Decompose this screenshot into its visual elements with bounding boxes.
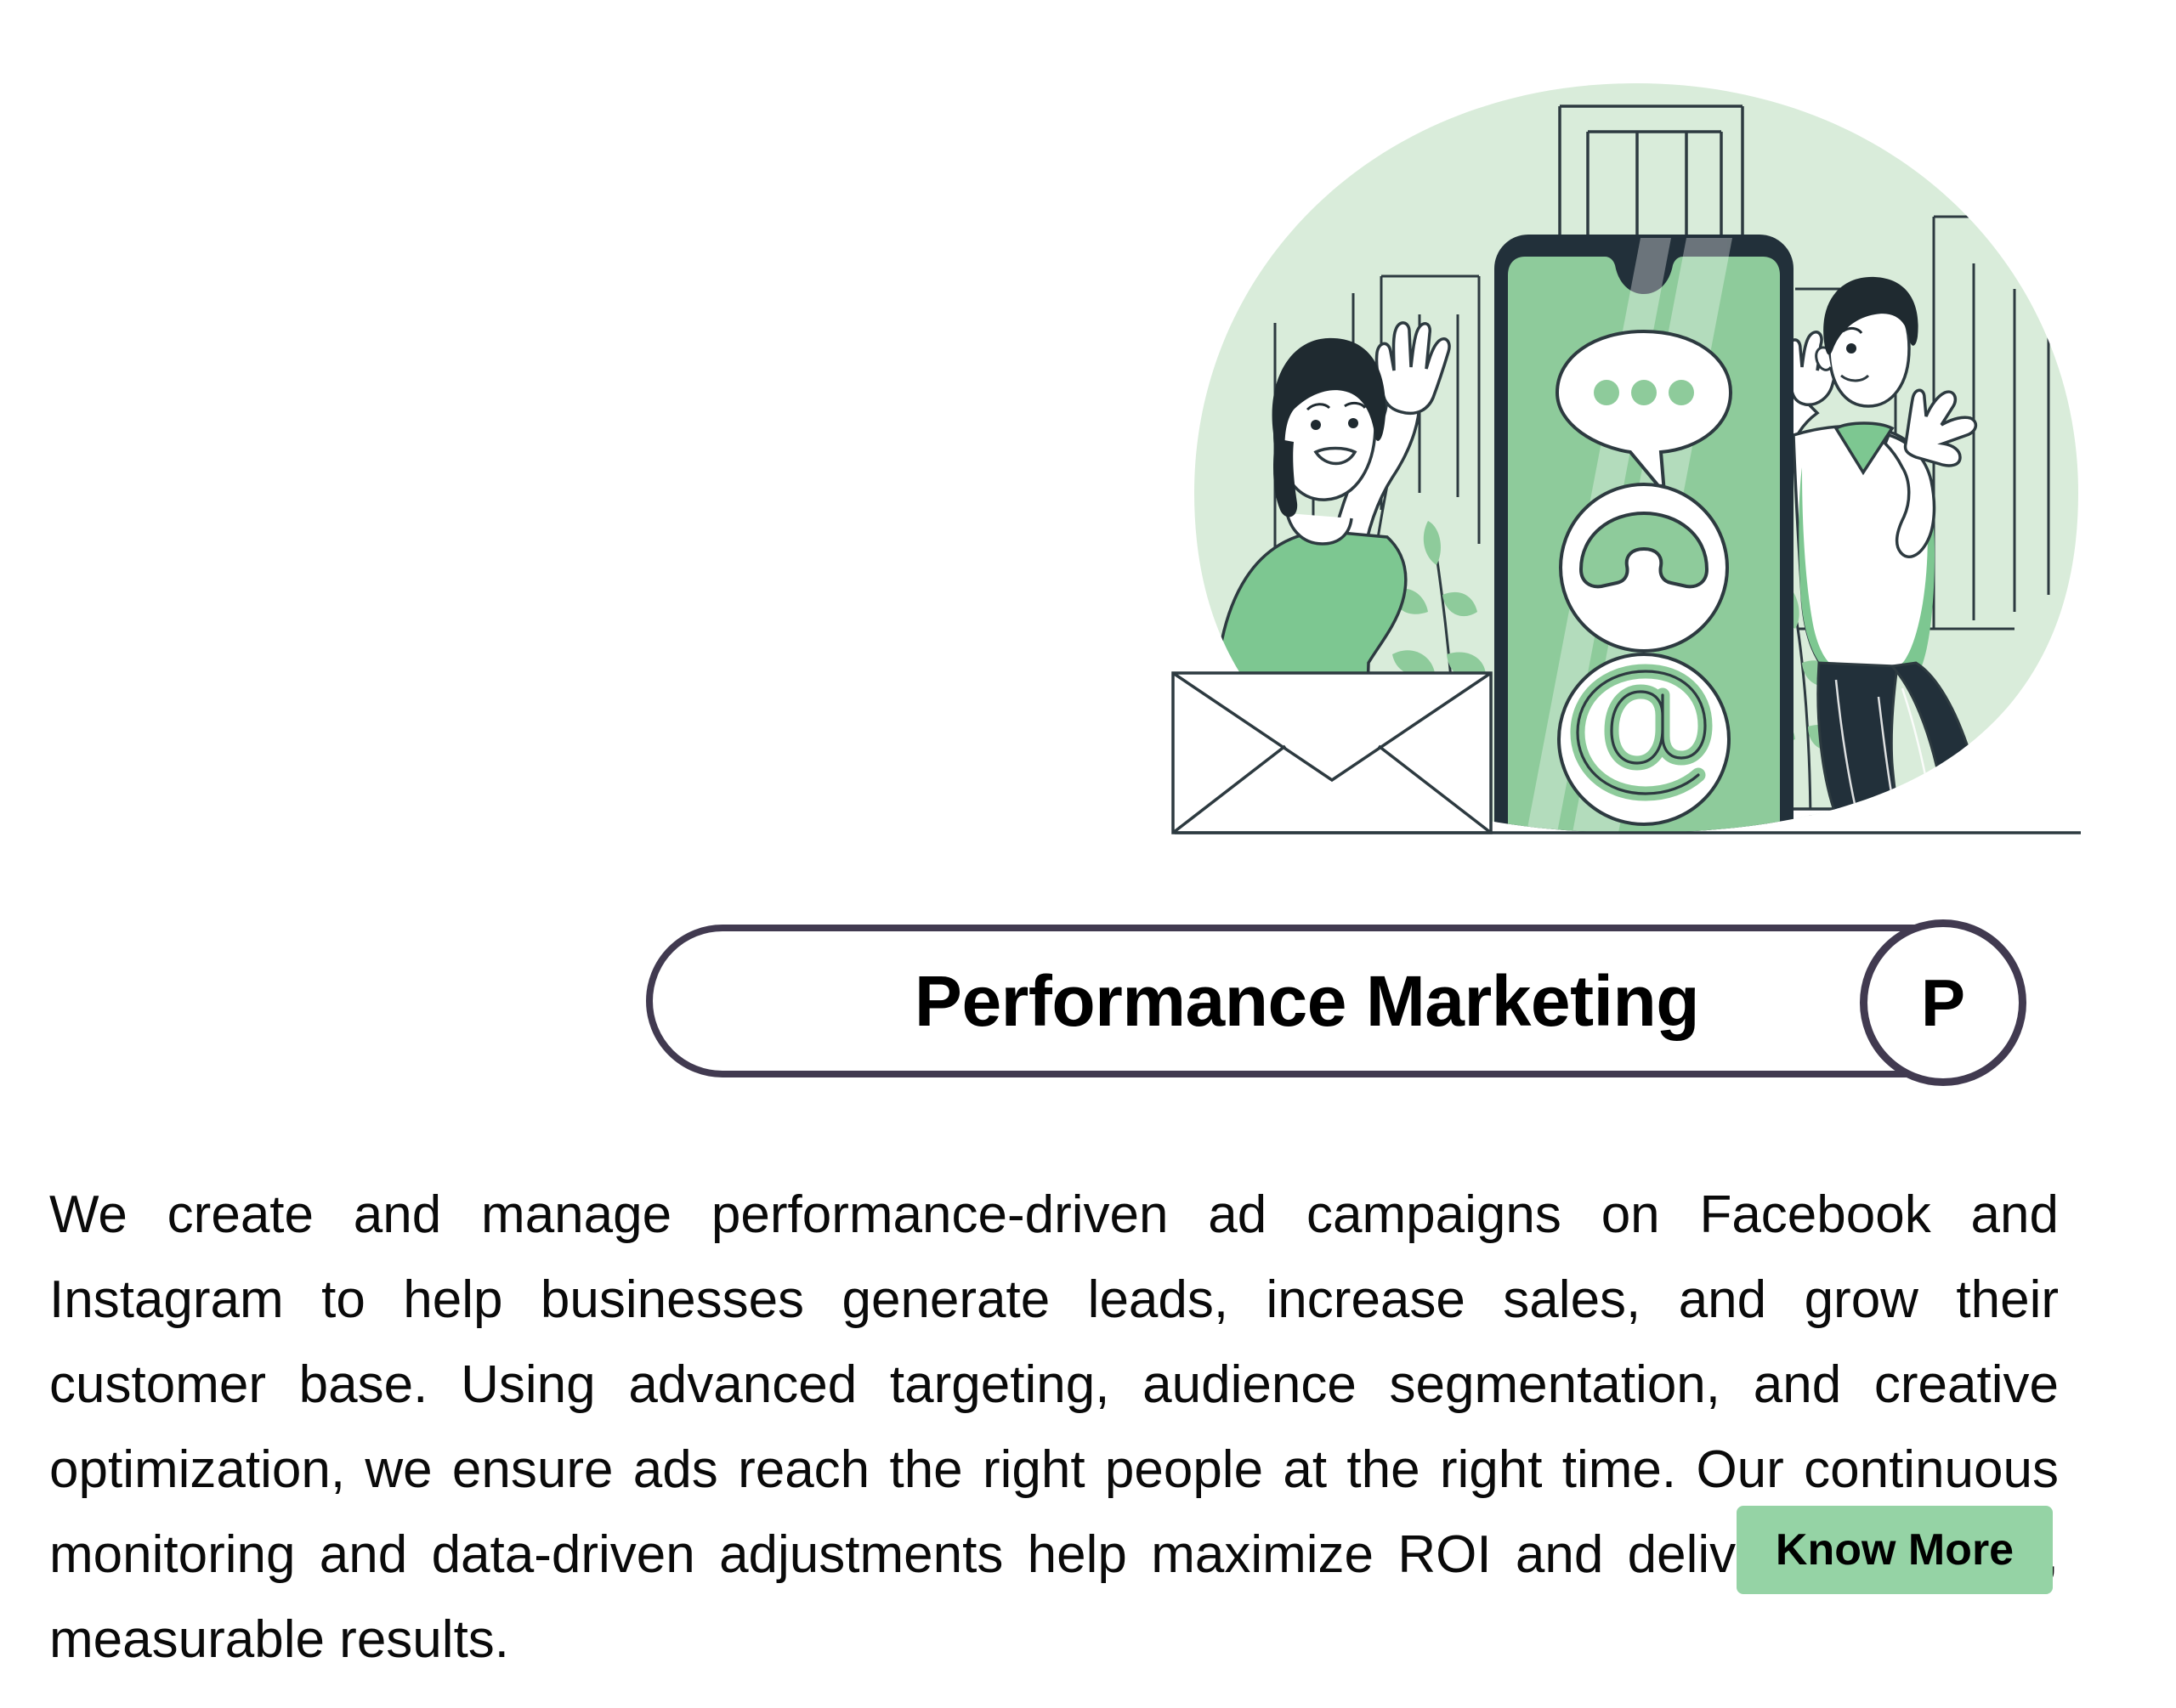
service-illustration xyxy=(1164,68,2108,850)
phone-handset-icon xyxy=(1561,484,1727,651)
envelope xyxy=(1173,673,1491,833)
know-more-button[interactable]: Know More xyxy=(1737,1506,2053,1594)
badge-letter: P xyxy=(1921,970,1965,1036)
service-description: We create and manage performance-driven … xyxy=(49,1173,2059,1683)
title-initial-badge: P xyxy=(1860,919,2026,1086)
service-title-block: Performance Marketing P xyxy=(646,919,2040,1089)
title-pill: Performance Marketing xyxy=(646,925,2019,1077)
page-title: Performance Marketing xyxy=(915,965,1750,1037)
at-symbol-icon xyxy=(1559,654,1729,824)
